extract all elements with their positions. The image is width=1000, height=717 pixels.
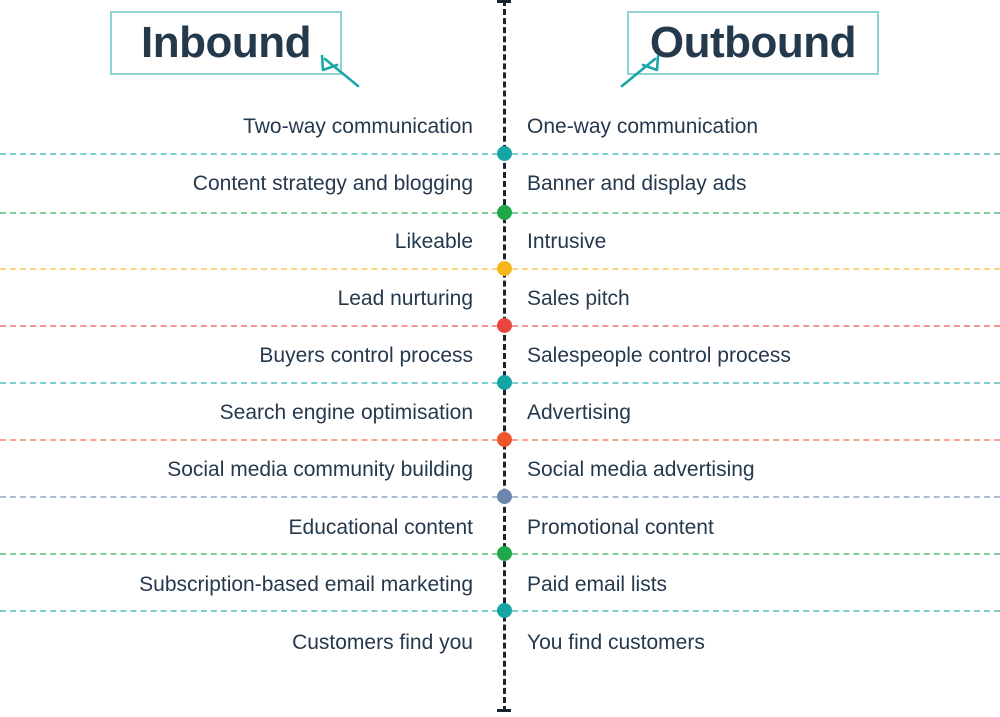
inbound-item-label: Lead nurturing — [0, 286, 473, 311]
comparison-row: Customers find youYou find customers — [0, 614, 1000, 671]
inbound-item-label: Two-way communication — [0, 114, 473, 139]
outbound-item-label: Social media advertising — [527, 457, 1000, 482]
outbound-title-label: Outbound — [650, 21, 856, 65]
inbound-item-label: Content strategy and blogging — [0, 171, 473, 196]
comparison-row: Two-way communicationOne-way communicati… — [0, 98, 1000, 155]
comparison-row: Social media community buildingSocial me… — [0, 441, 1000, 498]
center-divider-top-cap — [497, 0, 511, 3]
outbound-item-label: Salespeople control process — [527, 343, 1000, 368]
inbound-item-label: Social media community building — [0, 457, 473, 482]
outbound-item-label: Advertising — [527, 400, 1000, 425]
outbound-item-label: Intrusive — [527, 229, 1000, 254]
comparison-row: Lead nurturingSales pitch — [0, 270, 1000, 327]
outbound-item-label: Paid email lists — [527, 572, 1000, 597]
inbound-item-label: Educational content — [0, 515, 473, 540]
outbound-item-label: Promotional content — [527, 515, 1000, 540]
inbound-item-label: Search engine optimisation — [0, 400, 473, 425]
inbound-outbound-comparison-infographic: Inbound Outbound Two-way communicationOn… — [0, 0, 1000, 717]
inbound-title-box: Inbound — [110, 11, 342, 75]
center-divider-bottom-cap — [497, 709, 511, 712]
comparison-row: Subscription-based email marketingPaid e… — [0, 556, 1000, 613]
comparison-row: Educational contentPromotional content — [0, 499, 1000, 556]
inbound-item-label: Subscription-based email marketing — [0, 572, 473, 597]
outbound-item-label: Sales pitch — [527, 286, 1000, 311]
outbound-item-label: Banner and display ads — [527, 171, 1000, 196]
outbound-title-box: Outbound — [627, 11, 879, 75]
inbound-item-label: Likeable — [0, 229, 473, 254]
inbound-title-label: Inbound — [141, 21, 311, 65]
comparison-row: Search engine optimisationAdvertising — [0, 384, 1000, 441]
comparison-row: Content strategy and bloggingBanner and … — [0, 155, 1000, 212]
comparison-row: Buyers control processSalespeople contro… — [0, 327, 1000, 384]
outbound-item-label: One-way communication — [527, 114, 1000, 139]
comparison-row: LikeableIntrusive — [0, 213, 1000, 270]
inbound-item-label: Customers find you — [0, 630, 473, 655]
inbound-item-label: Buyers control process — [0, 343, 473, 368]
outbound-item-label: You find customers — [527, 630, 1000, 655]
